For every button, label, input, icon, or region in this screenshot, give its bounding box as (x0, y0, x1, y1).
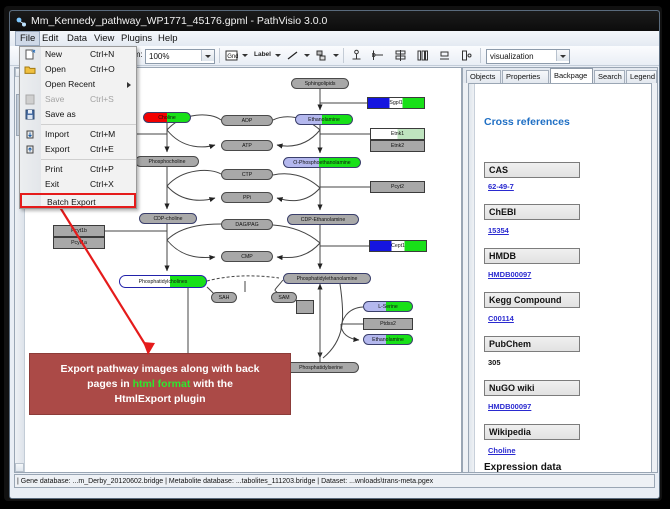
visualization-value: visualization (490, 51, 534, 62)
node-phosphatidylserine[interactable]: Phosphatidylserine (283, 362, 359, 373)
common-size-icon[interactable] (438, 49, 451, 62)
tab-legend[interactable]: Legend (626, 70, 657, 83)
submenu-arrow-icon (127, 82, 131, 88)
zoom-combo-arrow[interactable] (201, 50, 214, 61)
distribute-icon[interactable] (416, 49, 429, 62)
node-cdp-ethanolamine[interactable]: CDP-Ethanolamine (287, 214, 359, 225)
node-phosphocholine[interactable]: Phosphocholine (135, 156, 199, 167)
menu-bar: File Edit Data View Plugins Help (10, 31, 659, 47)
node-atp[interactable]: ATP (221, 140, 273, 151)
node-cdp-choline[interactable]: CDP-choline (139, 213, 197, 224)
group-icon[interactable] (460, 49, 473, 62)
export-icon (24, 144, 36, 155)
file-menu-label-batch-export: Batch Export (47, 197, 96, 208)
file-menu-accel-new: Ctrl+N (90, 47, 114, 62)
node-choline-top[interactable]: Choline (143, 112, 191, 123)
backpage-left-rail (469, 84, 475, 472)
banner-line-2a: pages in (87, 378, 133, 390)
node-pcyt2[interactable]: Pcyt2 (370, 181, 425, 193)
backpage-content: Cross references CAS 62-49-7 ChEBI 15354… (476, 84, 651, 472)
menu-file[interactable]: File (15, 31, 40, 46)
visualization-combo[interactable]: visualization (486, 49, 570, 64)
file-menu-label-exit: Exit (45, 177, 59, 192)
node-sgpl1[interactable]: Sgpl1 (367, 97, 425, 109)
node-pcyt1b[interactable]: Pcyt1b (53, 225, 105, 237)
node-ctp[interactable]: CTP (221, 169, 273, 180)
file-menu-separator-2 (41, 159, 136, 160)
node-phosphatidylcholines[interactable]: Phosphatidylcholines (119, 275, 207, 288)
node-ethanolamine-1[interactable]: Ethanolamine (295, 114, 353, 125)
banner-line-3: HtmlExport plugin (115, 393, 206, 405)
file-menu-accel-exit: Ctrl+X (90, 177, 114, 192)
node-etnk2[interactable]: Etnk2 (370, 140, 425, 152)
node-ppi[interactable]: PPi (221, 192, 273, 203)
file-menu-item-import[interactable]: Import Ctrl+M (20, 127, 136, 142)
node-sah[interactable]: SAH (211, 292, 237, 303)
visualization-combo-arrow[interactable] (556, 50, 569, 61)
menu-plugins[interactable]: Plugins (117, 32, 156, 45)
file-menu-dropdown[interactable]: New Ctrl+N Open Ctrl+O Open Recent Save … (19, 46, 137, 209)
menu-help[interactable]: Help (154, 32, 182, 45)
xref-label-hmdb: HMDB (484, 248, 580, 264)
interaction-tool-arrow[interactable] (333, 54, 339, 57)
line-tool-icon[interactable] (286, 49, 299, 62)
file-menu-accel-export: Ctrl+E (90, 142, 114, 157)
xref-label-nugo: NuGO wiki (484, 380, 580, 396)
file-menu-separator-1 (41, 124, 136, 125)
xref-label-wikipedia: Wikipedia (484, 424, 580, 440)
node-cept1[interactable]: Cept1 (369, 240, 427, 252)
tab-properties[interactable]: Properties (502, 70, 549, 83)
xref-label-cas: CAS (484, 162, 580, 178)
pathvisio-icon (15, 15, 27, 27)
file-menu-item-open-recent[interactable]: Open Recent (20, 77, 136, 92)
cross-references-title: Cross references (484, 116, 570, 128)
node-l-serine[interactable]: L-Serine (363, 301, 413, 312)
file-menu-item-save-as[interactable]: Save as (20, 107, 136, 122)
label-tool-icon[interactable]: Label (254, 51, 271, 58)
align-stack-icon[interactable] (394, 49, 407, 62)
annotation-banner: Export pathway images along with back pa… (29, 353, 291, 415)
file-menu-item-open[interactable]: Open Ctrl+O (20, 62, 136, 77)
pathvisio-window: Mm_Kennedy_pathway_WP1771_45176.gpml - P… (9, 10, 660, 499)
status-bar-text: | Gene database: ...m_Derby_20120602.bri… (17, 476, 433, 487)
import-icon (24, 129, 36, 140)
xref-label-pubchem: PubChem (484, 336, 580, 352)
panel-tabs: Objects Properties Backpage Search Legen… (463, 68, 657, 83)
file-menu-item-new[interactable]: New Ctrl+N (20, 47, 136, 62)
node-cmp[interactable]: CMP (221, 251, 273, 262)
save-as-disk-icon (24, 109, 36, 120)
node-dag-pag[interactable]: DAG/PAG (221, 219, 273, 230)
interaction-tool-icon[interactable] (315, 49, 328, 62)
xref-value-wikipedia[interactable]: Choline (488, 446, 516, 455)
tab-search[interactable]: Search (594, 70, 625, 83)
node-adp[interactable]: ADP (221, 115, 273, 126)
node-unlabeled-box[interactable] (296, 300, 314, 314)
file-menu-label-open-recent: Open Recent (45, 77, 95, 92)
align-left-icon[interactable] (372, 49, 385, 62)
shape-tool-icon[interactable]: Gnd (225, 49, 238, 62)
xref-value-cas[interactable]: 62-49-7 (488, 182, 514, 191)
node-phosphatidylethanolamine[interactable]: Phosphatidylethanolamine (283, 273, 371, 284)
file-menu-label-open: Open (45, 62, 66, 77)
expression-data-title: Expression data (484, 462, 561, 473)
node-ptdss2[interactable]: Ptdss2 (363, 318, 413, 330)
title-bar: Mm_Kennedy_pathway_WP1771_45176.gpml - P… (10, 11, 659, 31)
zoom-value: 100% (149, 51, 169, 62)
file-menu-accel-save: Ctrl+S (90, 92, 114, 107)
screenshot-frame: Mm_Kennedy_pathway_WP1771_45176.gpml - P… (0, 0, 670, 509)
save-disk-icon (24, 94, 36, 105)
xref-label-kegg: Kegg Compound (484, 292, 580, 308)
node-sphingolipids[interactable]: Sphingolipids (291, 78, 349, 89)
label-tool-arrow[interactable] (275, 54, 281, 57)
file-menu-label-save-as: Save as (45, 107, 76, 122)
anchor-icon[interactable] (350, 49, 363, 62)
banner-line-1: Export pathway images along with back (61, 363, 260, 375)
xref-value-hmdb[interactable]: HMDB00097 (488, 270, 531, 279)
file-menu-label-export: Export (45, 142, 70, 157)
file-menu-accel-open: Ctrl+O (90, 62, 115, 77)
file-menu-label-new: New (45, 47, 62, 62)
line-tool-arrow[interactable] (304, 54, 310, 57)
status-bar-container: | Gene database: ...m_Derby_20120602.bri… (14, 474, 655, 488)
banner-line-2b: with the (190, 378, 233, 390)
file-menu-item-print[interactable]: Print Ctrl+P (20, 162, 136, 177)
open-folder-icon (24, 64, 36, 75)
file-menu-item-save: Save Ctrl+S (20, 92, 136, 107)
right-side-panel: Objects Properties Backpage Search Legen… (462, 67, 658, 473)
node-etnk1[interactable]: Etnk1 (370, 128, 425, 140)
xref-value-pubchem: 305 (488, 358, 501, 367)
zoom-combo[interactable]: 100% (145, 49, 215, 64)
xref-value-kegg[interactable]: C00114 (488, 314, 514, 323)
file-menu-accel-print: Ctrl+P (90, 162, 114, 177)
banner-highlight: html format (133, 378, 191, 390)
file-menu-item-export[interactable]: Export Ctrl+E (20, 142, 136, 157)
file-menu-label-import: Import (45, 127, 69, 142)
file-menu-item-batch-export[interactable]: Batch Export (20, 193, 136, 208)
node-pcyt1a[interactable]: Pcyt1a (53, 237, 105, 249)
tab-objects[interactable]: Objects (466, 70, 501, 83)
xref-label-chebi: ChEBI (484, 204, 580, 220)
xref-value-nugo[interactable]: HMDB00097 (488, 402, 531, 411)
backpage-panel: Cross references CAS 62-49-7 ChEBI 15354… (468, 83, 652, 473)
svg-text:Gnd: Gnd (227, 54, 238, 60)
menu-view[interactable]: View (90, 32, 118, 45)
file-menu-label-print: Print (45, 162, 62, 177)
file-menu-item-exit[interactable]: Exit Ctrl+X (20, 177, 136, 192)
xref-value-chebi[interactable]: 15354 (488, 226, 509, 235)
shape-tool-arrow[interactable] (242, 54, 248, 57)
menu-edit[interactable]: Edit (38, 32, 62, 45)
tab-backpage[interactable]: Backpage (550, 68, 593, 83)
file-menu-label-save: Save (45, 92, 64, 107)
node-ethanolamine-2[interactable]: Ethanolamine (363, 334, 413, 345)
window-title: Mm_Kennedy_pathway_WP1771_45176.gpml - P… (31, 11, 327, 31)
node-o-phosphoethanolamine[interactable]: O-Phosphoethanolamine (283, 157, 361, 168)
node-sam[interactable]: SAM (271, 292, 297, 303)
file-menu-accel-import: Ctrl+M (90, 127, 115, 142)
new-document-icon (24, 49, 36, 60)
menu-data[interactable]: Data (63, 32, 91, 45)
scroll-down-button[interactable] (15, 463, 24, 472)
